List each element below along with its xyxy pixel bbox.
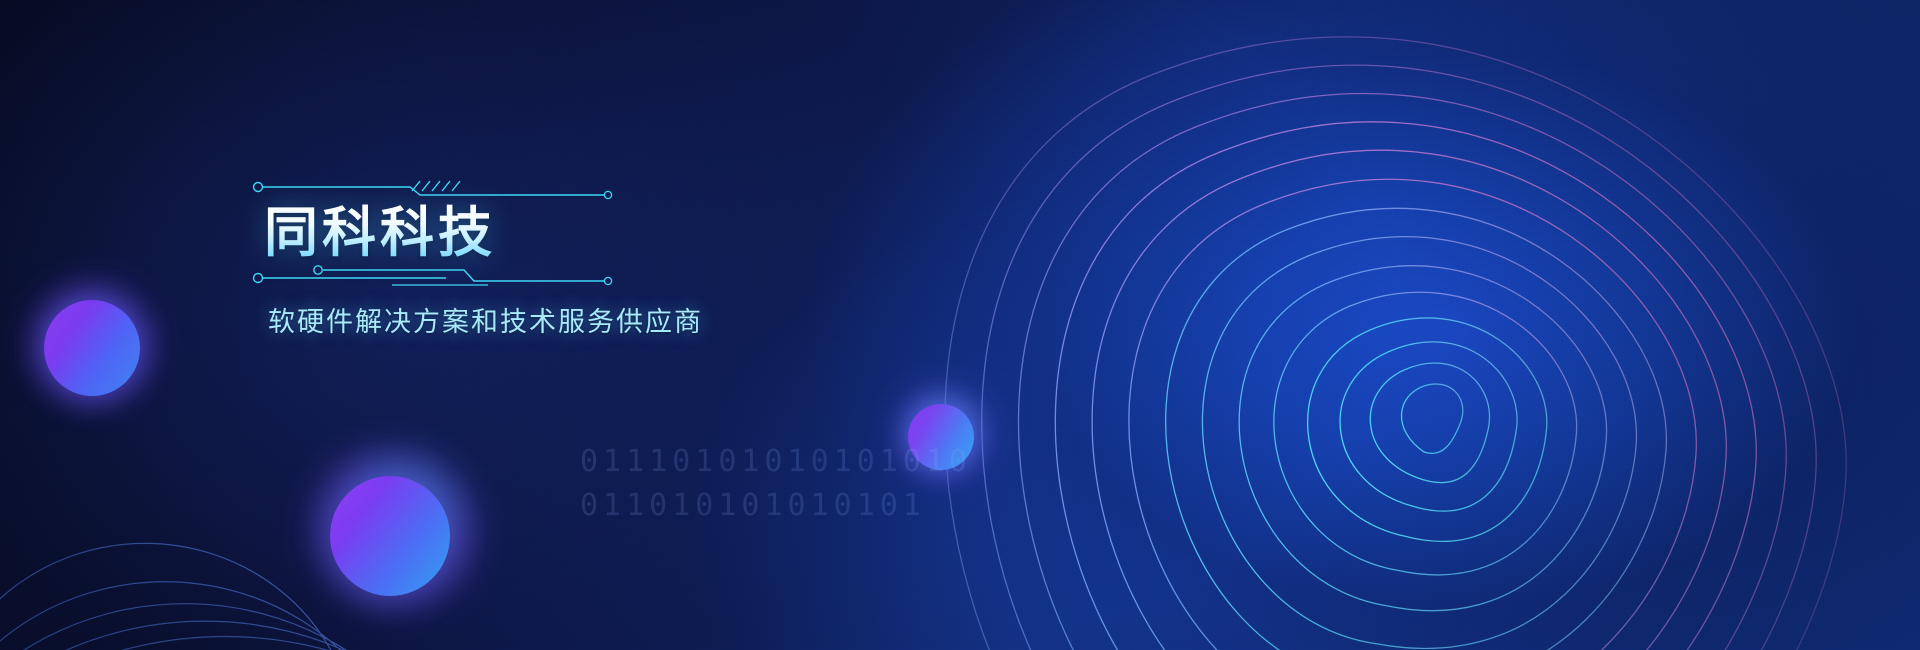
orb-core [330, 476, 450, 596]
page-title: 同科科技 [252, 202, 612, 264]
binary-line-1: 01110101010101010 [580, 440, 1000, 484]
orb-core [44, 300, 140, 396]
hero-banner: 01110101010101010 011010101010101 同科科技 软… [0, 0, 1920, 650]
page-subtitle: 软硬件解决方案和技术服务供应商 [268, 300, 703, 339]
decorative-orb-left [44, 300, 140, 396]
brand-block: 同科科技 [252, 178, 612, 288]
binary-line-2: 011010101010101 [580, 484, 1000, 528]
decorative-orb-bottom-left [330, 476, 450, 596]
circuit-line-bottom-icon [252, 264, 612, 288]
binary-code-decoration: 01110101010101010 011010101010101 [580, 440, 1000, 528]
circuit-line-top-icon [252, 178, 612, 202]
